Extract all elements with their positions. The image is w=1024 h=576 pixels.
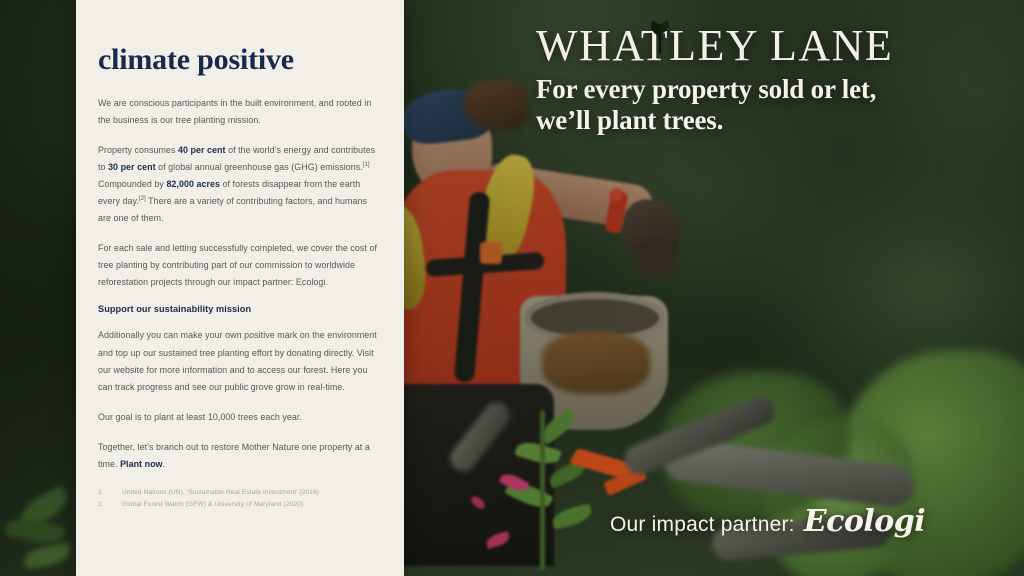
tagline: For every property sold or let, we’ll pl… bbox=[536, 74, 1006, 137]
tagline-line-1: For every property sold or let, bbox=[536, 74, 1006, 105]
sprout-leaf-icon bbox=[649, 18, 671, 52]
subheading-sustainability: Support our sustainability mission bbox=[98, 304, 382, 314]
text-run: . bbox=[163, 459, 166, 469]
climate-positive-card: climate positive We are conscious partic… bbox=[76, 0, 404, 576]
text-run: Property consumes bbox=[98, 145, 178, 155]
brand-name: WHATLEY LANE bbox=[536, 21, 893, 70]
plant-now-link[interactable]: Plant now bbox=[120, 459, 162, 469]
emphasis-text: 40 per cent bbox=[178, 145, 226, 155]
paragraph-stats: Property consumes 40 per cent of the wor… bbox=[98, 142, 382, 227]
paragraph-intro: We are conscious participants in the bui… bbox=[98, 95, 382, 129]
paragraph-commission: For each sale and letting successfully c… bbox=[98, 240, 382, 291]
paragraph-goal: Our goal is to plant at least 10,000 tre… bbox=[98, 409, 382, 426]
reference-item: 1. United Nations (UN), ‘Sustainable Rea… bbox=[98, 487, 382, 499]
text-run: of global annual greenhouse gas (GHG) em… bbox=[156, 162, 363, 172]
text-run: Compounded by bbox=[98, 179, 166, 189]
reference-text: Global Forest Watch (GFW) & University o… bbox=[122, 499, 303, 511]
paragraph-donate: Additionally you can make your own posit… bbox=[98, 327, 382, 395]
reference-item: 2. Global Forest Watch (GFW) & Universit… bbox=[98, 499, 382, 511]
tagline-line-2: we’ll plant trees. bbox=[536, 105, 1006, 136]
emphasis-text: 82,000 acres bbox=[166, 179, 220, 189]
headline-block: WHATLEY LANE For every property sold or … bbox=[536, 24, 1006, 137]
page-title: climate positive bbox=[98, 44, 382, 76]
impact-partner-label: Our impact partner: bbox=[610, 513, 795, 537]
emphasis-text: 30 per cent bbox=[108, 162, 156, 172]
citation-marker: [2] bbox=[139, 196, 146, 202]
text-run: We are conscious participants in the bui… bbox=[98, 98, 371, 125]
citation-marker: [1] bbox=[363, 162, 370, 168]
paragraph-closing: Together, let’s branch out to restore Mo… bbox=[98, 439, 382, 473]
text-run: Additionally you can make your own posit… bbox=[98, 330, 377, 391]
brand-wordmark: WHATLEY LANE bbox=[536, 24, 1006, 68]
text-run: Our goal is to plant at least 10,000 tre… bbox=[98, 412, 302, 422]
references-list: 1. United Nations (UN), ‘Sustainable Rea… bbox=[98, 487, 382, 510]
impact-partner-lockup: Our impact partner: Ecologi bbox=[610, 504, 925, 539]
reference-text: United Nations (UN), ‘Sustainable Real E… bbox=[122, 487, 319, 499]
reference-number: 2. bbox=[98, 499, 122, 511]
card-body-bottom: Additionally you can make your own posit… bbox=[98, 327, 382, 473]
text-run: For each sale and letting successfully c… bbox=[98, 243, 377, 287]
ecologi-logo: Ecologi bbox=[804, 504, 925, 539]
card-body-top: We are conscious participants in the bui… bbox=[98, 95, 382, 292]
reference-number: 1. bbox=[98, 487, 122, 499]
